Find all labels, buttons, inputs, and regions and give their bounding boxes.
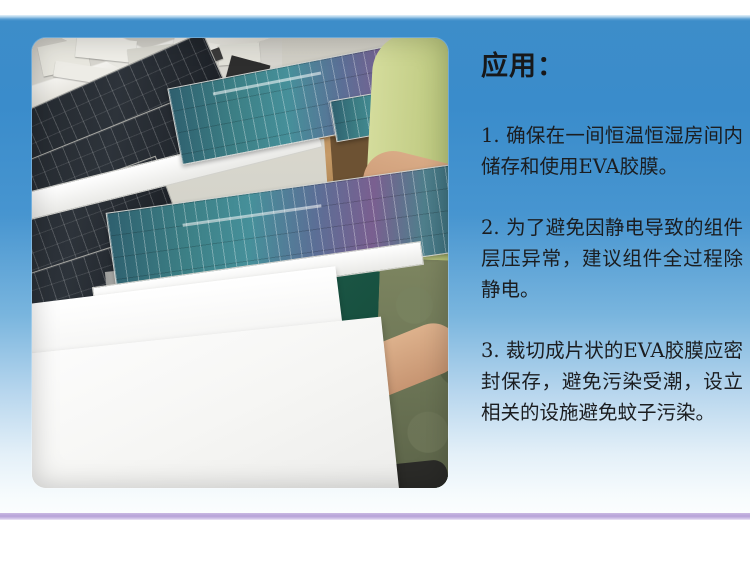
- product-photo: [32, 38, 448, 488]
- application-title: 应用：: [481, 52, 743, 82]
- application-item-3: 3. 裁切成片状的EVA胶膜应密封保存，避免污染受潮，设立相关的设施避免蚊子污染…: [481, 335, 743, 428]
- application-item-2: 2. 为了避免因静电导致的组件层压异常，建议组件全过程除静电。: [481, 212, 743, 305]
- application-text-column: 应用： 1. 确保在一间恒温恒湿房间内储存和使用EVA胶膜。 2. 为了避免因静…: [481, 52, 743, 428]
- page-root: 应用： 1. 确保在一间恒温恒湿房间内储存和使用EVA胶膜。 2. 为了避免因静…: [0, 0, 750, 561]
- panel-top-highlight: [0, 15, 750, 19]
- application-item-1: 1. 确保在一间恒温恒湿房间内储存和使用EVA胶膜。: [481, 120, 743, 182]
- bottom-divider: [0, 513, 750, 520]
